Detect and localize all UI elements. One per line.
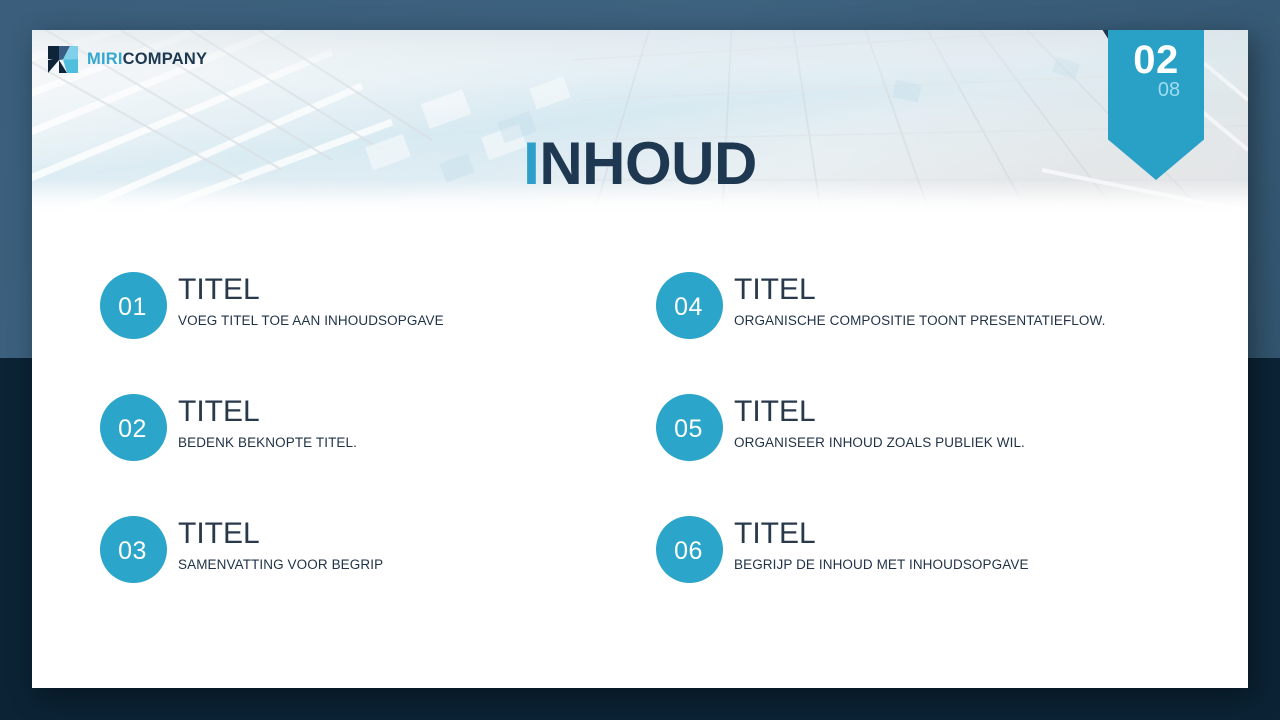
item-description: BEDENK BEKNOPTE TITEL. — [178, 435, 357, 451]
company-logo[interactable]: MIRICOMPANY — [48, 46, 207, 73]
item-description: VOEG TITEL TOE AAN INHOUDSOPGAVE — [178, 313, 444, 329]
item-number-circle: 05 — [656, 394, 723, 461]
item-number: 01 — [118, 295, 147, 320]
item-text-block: TITEL VOEG TITEL TOE AAN INHOUDSOPGAVE — [178, 272, 444, 329]
list-item[interactable]: 03 TITEL SAMENVATTING VOOR BEGRIP — [100, 516, 656, 638]
item-text-block: TITEL BEDENK BEKNOPTE TITEL. — [178, 394, 357, 451]
item-description: ORGANISCHE COMPOSITIE TOONT PRESENTATIEF… — [734, 313, 1105, 329]
item-number-circle: 02 — [100, 394, 167, 461]
list-item[interactable]: 01 TITEL VOEG TITEL TOE AAN INHOUDSOPGAV… — [100, 272, 656, 394]
item-text-block: TITEL SAMENVATTING VOOR BEGRIP — [178, 516, 383, 573]
item-number: 03 — [118, 539, 147, 564]
page-title-first-letter: I — [523, 130, 539, 197]
item-text-block: TITEL ORGANISCHE COMPOSITIE TOONT PRESEN… — [734, 272, 1105, 329]
item-number: 06 — [674, 539, 703, 564]
item-title: TITEL — [178, 518, 383, 550]
item-title: TITEL — [178, 396, 357, 428]
item-number: 04 — [674, 295, 703, 320]
item-number-circle: 03 — [100, 516, 167, 583]
item-number-circle: 01 — [100, 272, 167, 339]
list-item[interactable]: 02 TITEL BEDENK BEKNOPTE TITEL. — [100, 394, 656, 516]
item-number: 02 — [118, 417, 147, 442]
item-title: TITEL — [734, 518, 1029, 550]
item-title: TITEL — [734, 274, 1105, 306]
list-item[interactable]: 05 TITEL ORGANISEER INHOUD ZOALS PUBLIEK… — [656, 394, 1190, 516]
item-description: BEGRIJP DE INHOUD MET INHOUDSOPGAVE — [734, 557, 1029, 573]
item-title: TITEL — [734, 396, 1025, 428]
item-number: 05 — [674, 417, 703, 442]
slide-content: 01 TITEL VOEG TITEL TOE AAN INHOUDSOPGAV… — [32, 212, 1248, 688]
current-page-number: 02 — [1108, 40, 1204, 80]
item-text-block: TITEL ORGANISEER INHOUD ZOALS PUBLIEK WI… — [734, 394, 1025, 451]
item-number-circle: 06 — [656, 516, 723, 583]
item-description: SAMENVATTING VOOR BEGRIP — [178, 557, 383, 573]
item-description: ORGANISEER INHOUD ZOALS PUBLIEK WIL. — [734, 435, 1025, 451]
x-logo-icon — [48, 46, 78, 73]
list-item[interactable]: 06 TITEL BEGRIJP DE INHOUD MET INHOUDSOP… — [656, 516, 1190, 638]
page-title: INHOUD — [32, 134, 1248, 194]
list-item[interactable]: 04 TITEL ORGANISCHE COMPOSITIE TOONT PRE… — [656, 272, 1190, 394]
logo-text-secondary: COMPANY — [123, 50, 208, 68]
company-logo-text: MIRICOMPANY — [87, 51, 207, 68]
page-title-rest: NHOUD — [539, 130, 757, 197]
item-number-circle: 04 — [656, 272, 723, 339]
total-page-number: 08 — [1108, 80, 1204, 100]
presentation-slide: MIRICOMPANY INHOUD 02 08 01 TITEL VOEG T… — [32, 30, 1248, 688]
toc-grid: 01 TITEL VOEG TITEL TOE AAN INHOUDSOPGAV… — [100, 272, 1190, 638]
item-title: TITEL — [178, 274, 444, 306]
item-text-block: TITEL BEGRIJP DE INHOUD MET INHOUDSOPGAV… — [734, 516, 1029, 573]
logo-text-primary: MIRI — [87, 50, 123, 68]
